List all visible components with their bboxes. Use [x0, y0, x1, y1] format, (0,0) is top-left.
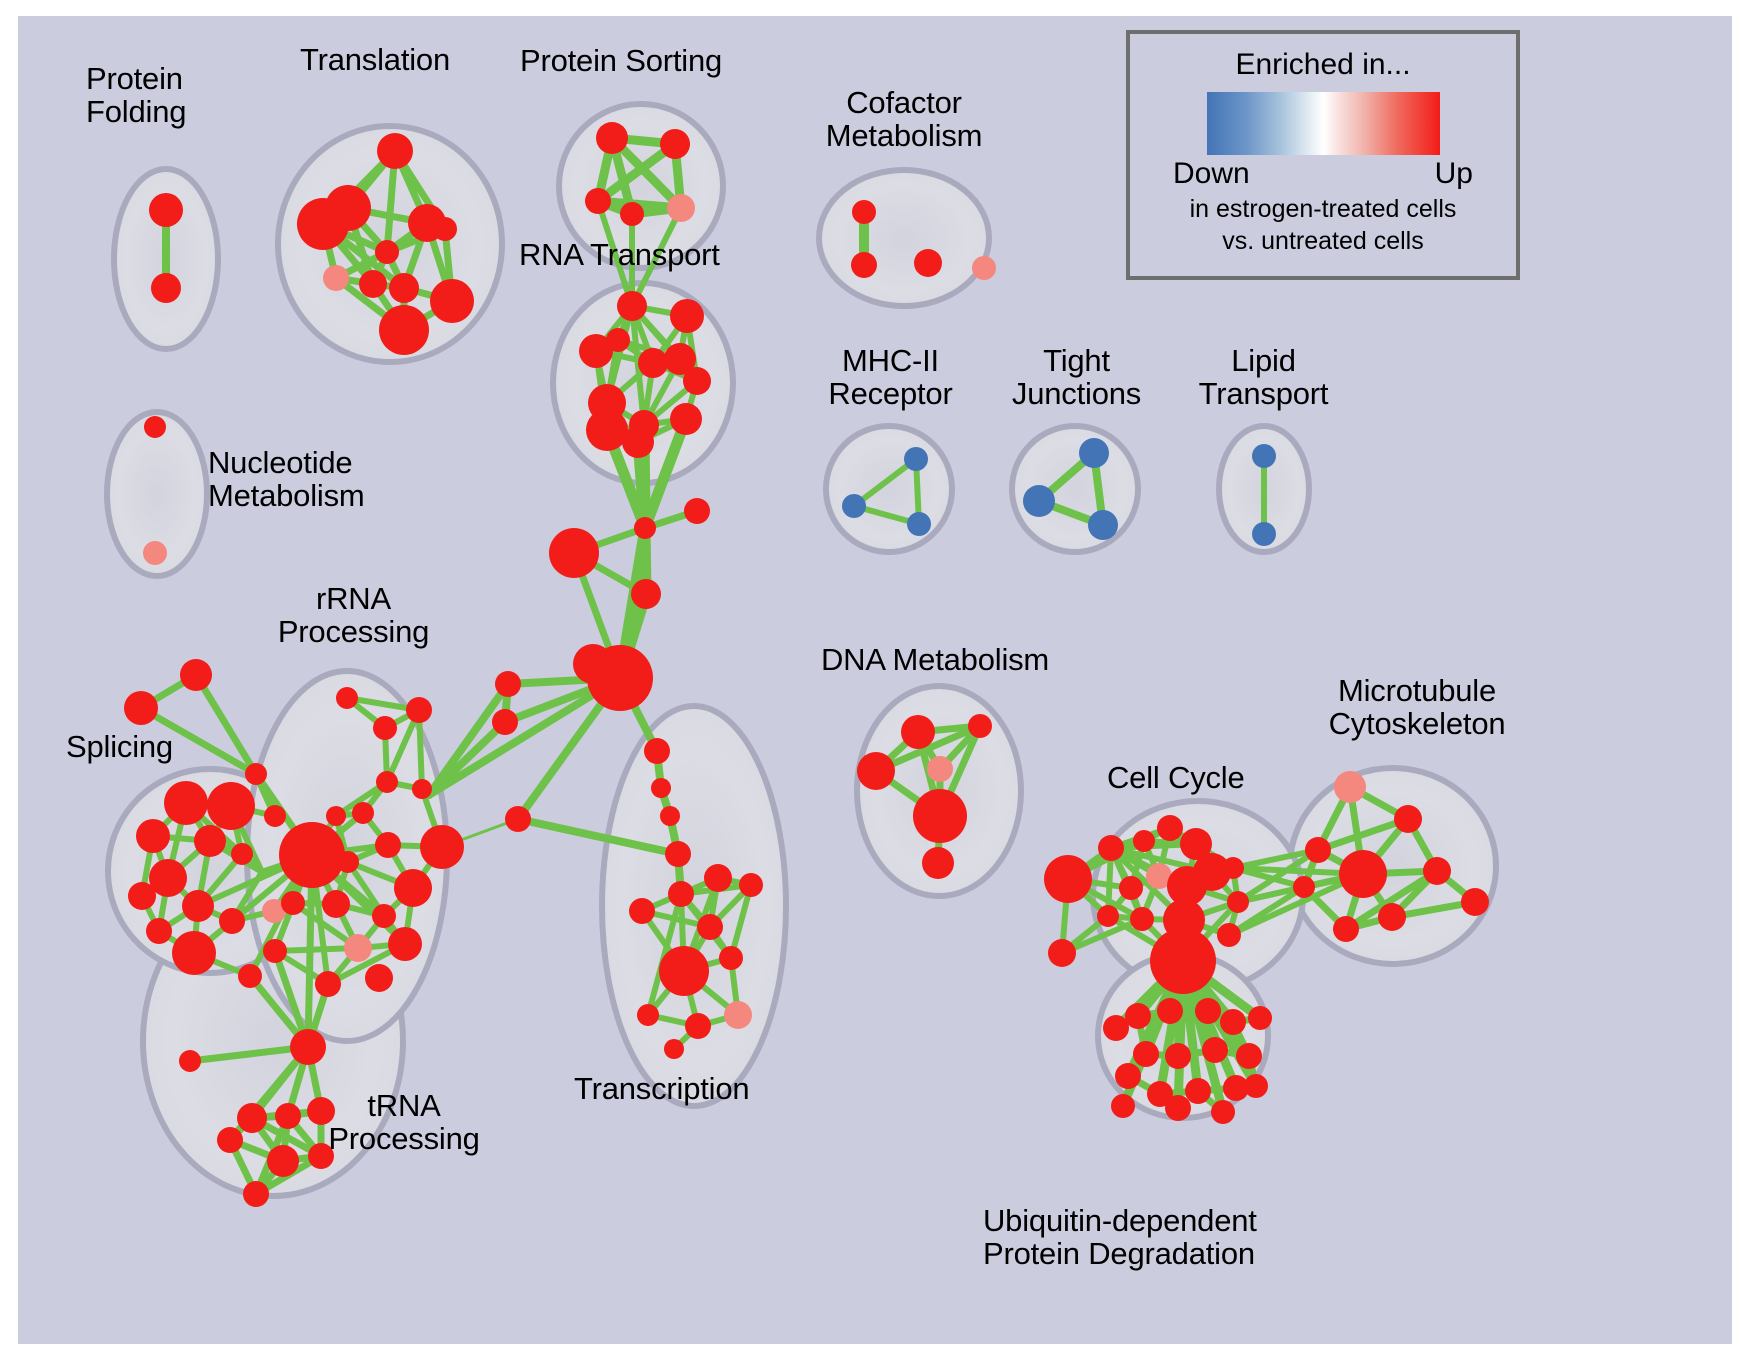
node — [1252, 522, 1276, 546]
node — [904, 447, 928, 471]
node — [670, 403, 702, 435]
node — [685, 1013, 711, 1039]
node — [851, 252, 877, 278]
node — [1211, 1100, 1235, 1124]
node — [683, 367, 711, 395]
cluster-label-dna-metabolism: DNA Metabolism — [821, 643, 1049, 676]
node — [637, 1004, 659, 1026]
legend-color-gradient-bar — [1207, 92, 1440, 155]
node — [1165, 1095, 1191, 1121]
node — [290, 1029, 326, 1065]
cluster-label-ubiquitin-degradation: Ubiquitin-dependent Protein Degradation — [983, 1204, 1257, 1271]
node — [389, 273, 419, 303]
node — [968, 714, 992, 738]
cluster-label-nucleotide-metabolism: Nucleotide Metabolism — [208, 446, 365, 513]
node — [644, 738, 670, 764]
cluster-label-splicing: Splicing — [66, 730, 173, 763]
cluster-label-cell-cycle: Cell Cycle — [1107, 761, 1245, 794]
node — [585, 188, 611, 214]
node — [323, 265, 349, 291]
node — [670, 299, 704, 333]
legend-subtitle-line1: in estrogen-treated cells — [1130, 195, 1516, 223]
node — [842, 494, 866, 518]
node — [651, 778, 671, 798]
node — [149, 193, 183, 227]
node — [631, 579, 661, 609]
cluster-label-tight-junctions: Tight Junctions — [995, 344, 1158, 411]
node — [207, 782, 255, 830]
node — [1461, 888, 1489, 916]
node — [1334, 771, 1366, 803]
legend-subtitle-line2: vs. untreated cells — [1130, 227, 1516, 255]
node — [151, 273, 181, 303]
node — [365, 964, 393, 992]
node — [297, 198, 349, 250]
node — [495, 671, 521, 697]
node — [406, 697, 432, 723]
node — [1133, 1041, 1159, 1067]
node — [372, 904, 396, 928]
node — [144, 416, 166, 438]
node — [275, 1103, 301, 1129]
node — [264, 805, 286, 827]
node — [664, 1039, 684, 1059]
node — [620, 202, 644, 226]
node — [1195, 998, 1221, 1024]
node — [1244, 1074, 1268, 1098]
network-plot-area: Protein Folding Translation Protein Sort… — [18, 16, 1732, 1344]
node — [901, 715, 935, 749]
node — [1394, 805, 1422, 833]
node — [1293, 876, 1315, 898]
node — [375, 832, 401, 858]
node — [1165, 1043, 1191, 1069]
node — [927, 756, 953, 782]
node — [344, 934, 372, 962]
node — [852, 200, 876, 224]
node — [1079, 438, 1109, 468]
node — [375, 240, 399, 264]
node — [1252, 444, 1276, 468]
legend-title: Enriched in... — [1130, 48, 1516, 82]
node — [549, 528, 599, 578]
cluster-label-rrna-processing: rRNA Processing — [266, 582, 441, 649]
node — [1133, 830, 1155, 852]
node — [376, 771, 398, 793]
node — [1222, 857, 1244, 879]
node — [1248, 1006, 1272, 1030]
node — [394, 869, 432, 907]
node — [388, 927, 422, 961]
node — [180, 659, 212, 691]
node — [665, 841, 691, 867]
cluster-label-microtubule-cytoskeleton: Microtubule Cytoskeleton — [1303, 674, 1531, 741]
cluster-label-protein-sorting: Protein Sorting — [520, 44, 722, 77]
node — [326, 806, 346, 826]
node — [172, 931, 216, 975]
node — [1048, 939, 1076, 967]
node — [379, 305, 429, 355]
node — [124, 691, 158, 725]
cluster-label-protein-folding: Protein Folding — [86, 62, 186, 129]
cluster-label-mhc-ii-receptor: MHC-II Receptor — [808, 344, 973, 411]
node — [1333, 916, 1359, 942]
node — [724, 1001, 752, 1029]
cluster-label-cofactor-metabolism: Cofactor Metabolism — [798, 86, 1010, 153]
node — [1220, 1009, 1246, 1035]
node — [1157, 815, 1183, 841]
node — [660, 129, 690, 159]
node — [739, 873, 763, 897]
node — [136, 819, 170, 853]
node — [359, 270, 387, 298]
cluster-hull-microtubule-cytoskeleton[interactable] — [1290, 768, 1496, 964]
node — [146, 918, 172, 944]
figure-canvas: Protein Folding Translation Protein Sort… — [0, 0, 1750, 1360]
node — [281, 891, 305, 915]
cluster-label-rna-transport: RNA Transport — [519, 238, 720, 271]
node — [1202, 1037, 1228, 1063]
node — [634, 517, 656, 539]
node — [1157, 998, 1183, 1024]
node — [128, 882, 156, 910]
node — [267, 1145, 299, 1177]
node — [179, 1050, 201, 1072]
node — [433, 217, 457, 241]
cluster-label-trna-processing: tRNA Processing — [316, 1089, 492, 1156]
node — [322, 890, 350, 918]
node — [377, 133, 413, 169]
node — [1150, 928, 1216, 994]
node — [412, 779, 432, 799]
cluster-label-transcription: Transcription — [574, 1072, 749, 1105]
cluster-hull-mhc-ii-receptor[interactable] — [826, 426, 952, 552]
node — [1103, 1015, 1129, 1041]
node — [237, 1103, 267, 1133]
node — [337, 851, 359, 873]
node — [164, 781, 208, 825]
node — [697, 914, 723, 940]
node — [684, 498, 710, 524]
node — [606, 328, 630, 352]
node — [1111, 1094, 1135, 1118]
node — [1125, 1003, 1151, 1029]
legend-box: Enriched in... Down Up in estrogen-treat… — [1126, 30, 1520, 280]
node — [336, 687, 358, 709]
node — [1423, 857, 1451, 885]
node — [857, 752, 895, 790]
node — [1119, 876, 1143, 900]
node — [719, 946, 743, 970]
node — [430, 279, 474, 323]
node — [1098, 835, 1124, 861]
node — [219, 908, 245, 934]
node — [1130, 907, 1154, 931]
node — [667, 194, 695, 222]
node — [922, 847, 954, 879]
node — [638, 348, 668, 378]
node — [1023, 485, 1055, 517]
node — [1378, 903, 1406, 931]
node — [1227, 891, 1249, 913]
node — [245, 763, 267, 785]
cluster-label-translation: Translation — [300, 43, 450, 76]
node — [1185, 1078, 1211, 1104]
node — [1097, 905, 1119, 927]
node — [263, 939, 287, 963]
node — [315, 971, 341, 997]
node — [972, 256, 996, 280]
node — [238, 964, 262, 988]
cluster-label-lipid-transport: Lipid Transport — [1181, 344, 1346, 411]
node — [182, 890, 214, 922]
node — [243, 1181, 269, 1207]
node — [1339, 850, 1387, 898]
node — [659, 946, 709, 996]
node — [596, 122, 628, 154]
node — [617, 291, 647, 321]
node — [668, 881, 694, 907]
node — [194, 825, 226, 857]
node — [279, 822, 345, 888]
node — [573, 644, 613, 684]
node — [373, 716, 397, 740]
node — [622, 426, 654, 458]
node — [914, 249, 942, 277]
node — [660, 806, 680, 826]
node — [586, 409, 628, 451]
node — [1217, 923, 1241, 947]
node — [492, 709, 518, 735]
node — [1088, 510, 1118, 540]
node — [231, 843, 253, 865]
node — [143, 541, 167, 565]
node — [352, 802, 374, 824]
node — [505, 806, 531, 832]
node — [1236, 1043, 1262, 1069]
cluster-hull-cofactor-metabolism[interactable] — [819, 170, 989, 306]
legend-high-label: Up — [1435, 157, 1473, 191]
node — [907, 512, 931, 536]
node — [1044, 855, 1092, 903]
node — [420, 825, 464, 869]
node — [629, 898, 655, 924]
node — [704, 864, 732, 892]
node — [217, 1127, 243, 1153]
node — [913, 789, 967, 843]
legend-low-label: Down — [1173, 157, 1250, 191]
node — [1115, 1063, 1141, 1089]
node — [1305, 837, 1331, 863]
